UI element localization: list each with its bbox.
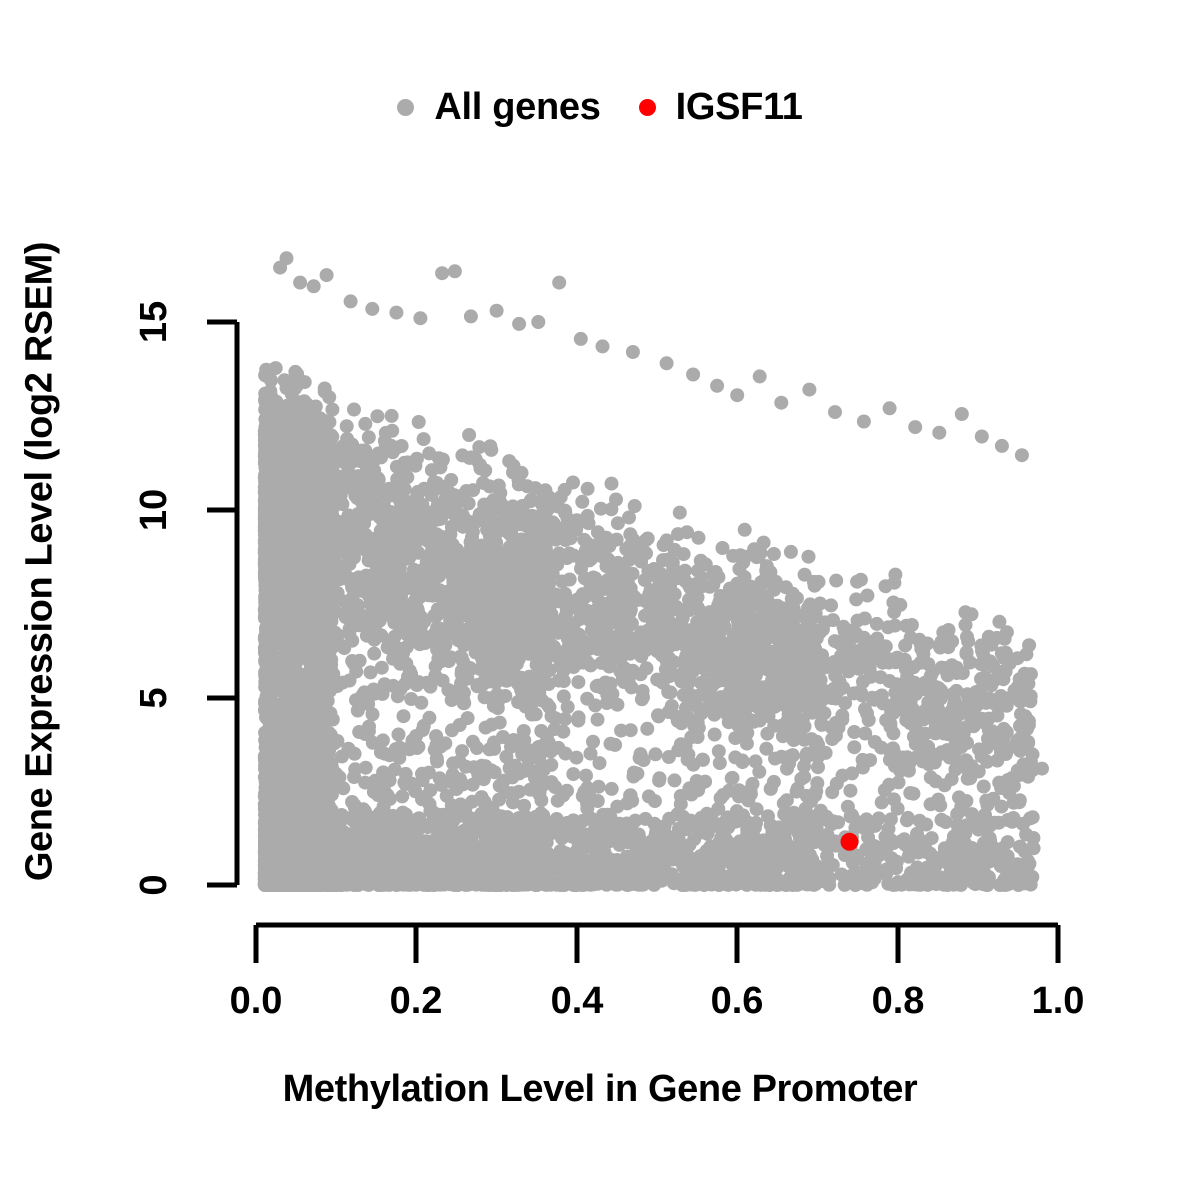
x-tick-label-1: 0.2 [390, 980, 443, 1022]
highlighted-point-igsf11 [841, 833, 859, 851]
y-tick-label-10: 10 [133, 489, 175, 531]
x-tick-label-4: 0.8 [872, 980, 925, 1022]
x-axis-title: Methylation Level in Gene Promoter [0, 1068, 1200, 1111]
y-tick-label-5: 5 [133, 687, 175, 708]
data-points-layer [258, 251, 1049, 892]
x-tick-label-5: 1.0 [1032, 980, 1085, 1022]
x-tick-label-0: 0.0 [230, 980, 283, 1022]
plot-canvas: 15 10 5 0 0.0 0.2 0.4 0.6 0.8 1.0 [0, 0, 1200, 1200]
x-tick-label-3: 0.6 [711, 980, 764, 1022]
x-tick-label-2: 0.4 [551, 980, 604, 1022]
y-tick-label-15: 15 [133, 301, 175, 343]
y-tick-label-0: 0 [133, 874, 175, 895]
x-axis: 0.0 0.2 0.4 0.6 0.8 1.0 [230, 925, 1085, 1022]
y-axis-title: Gene Expression Level (log2 RSEM) [19, 142, 62, 982]
scatter-plot-figure: All genes IGSF11 15 10 5 0 [0, 0, 1200, 1200]
y-axis: 15 10 5 0 [133, 301, 237, 896]
